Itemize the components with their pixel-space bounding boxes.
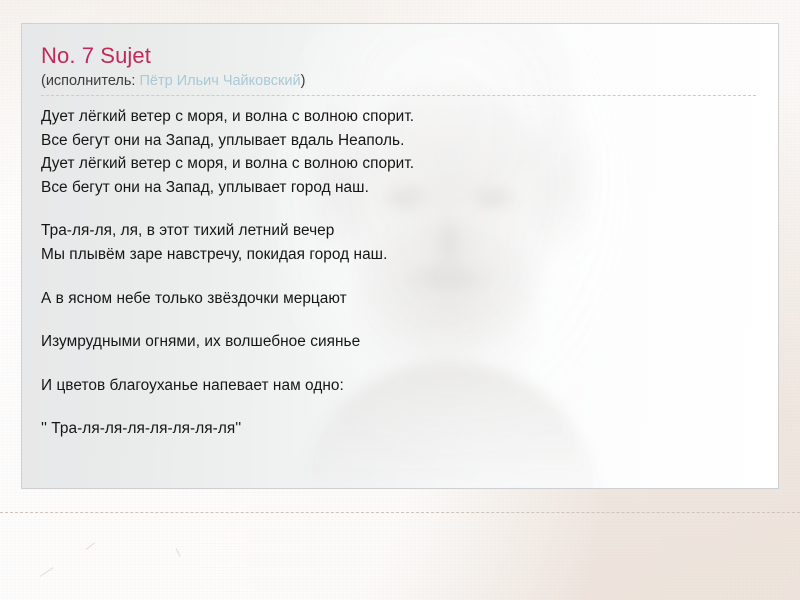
lyric-line: Дует лёгкий ветер с моря, и волна с волн…	[41, 152, 756, 176]
lyric-stanza: И цветов благоуханье напевает нам одно:	[41, 374, 756, 398]
lyrics-body: Дует лёгкий ветер с моря, и волна с волн…	[41, 96, 756, 441]
lyric-stanza: '' Тра-ля-ля-ля-ля-ля-ля-ля''	[41, 417, 756, 441]
lyric-line: '' Тра-ля-ля-ля-ля-ля-ля-ля''	[41, 417, 756, 441]
lyric-line: Все бегут они на Запад, уплывает город н…	[41, 176, 756, 200]
lyric-stanza: А в ясном небе только звёздочки мерцают	[41, 287, 756, 311]
lyric-line: Тра-ля-ля, ля, в этот тихий летний вечер	[41, 219, 756, 243]
slide-card: No. 7 Sujet (исполнитель: Пётр Ильич Чай…	[21, 23, 779, 489]
lyric-line: Мы плывём заре навстречу, покидая город …	[41, 243, 756, 267]
slide-content: No. 7 Sujet (исполнитель: Пётр Ильич Чай…	[22, 24, 778, 441]
lyric-stanza: Тра-ля-ля, ля, в этот тихий летний вечер…	[41, 219, 756, 266]
performer-suffix: )	[301, 73, 306, 89]
lyric-line: Изумрудными огнями, их волшебное сиянье	[41, 330, 756, 354]
lyric-stanza: Дует лёгкий ветер с моря, и волна с волн…	[41, 105, 756, 199]
lyric-line: А в ясном небе только звёздочки мерцают	[41, 287, 756, 311]
lyric-line: Все бегут они на Запад, уплывает вдаль Н…	[41, 129, 756, 153]
lyric-line: Дует лёгкий ветер с моря, и волна с волн…	[41, 105, 756, 129]
performer-label: (исполнитель:	[41, 73, 139, 89]
composer-link[interactable]: Пётр Ильич Чайковский	[139, 73, 300, 89]
lyric-stanza: Изумрудными огнями, их волшебное сиянье	[41, 330, 756, 354]
footer-divider	[0, 512, 800, 513]
page-title: No. 7 Sujet	[41, 42, 756, 69]
lyric-line: И цветов благоуханье напевает нам одно:	[41, 374, 756, 398]
performer-subtitle: (исполнитель: Пётр Ильич Чайковский)	[41, 71, 756, 96]
